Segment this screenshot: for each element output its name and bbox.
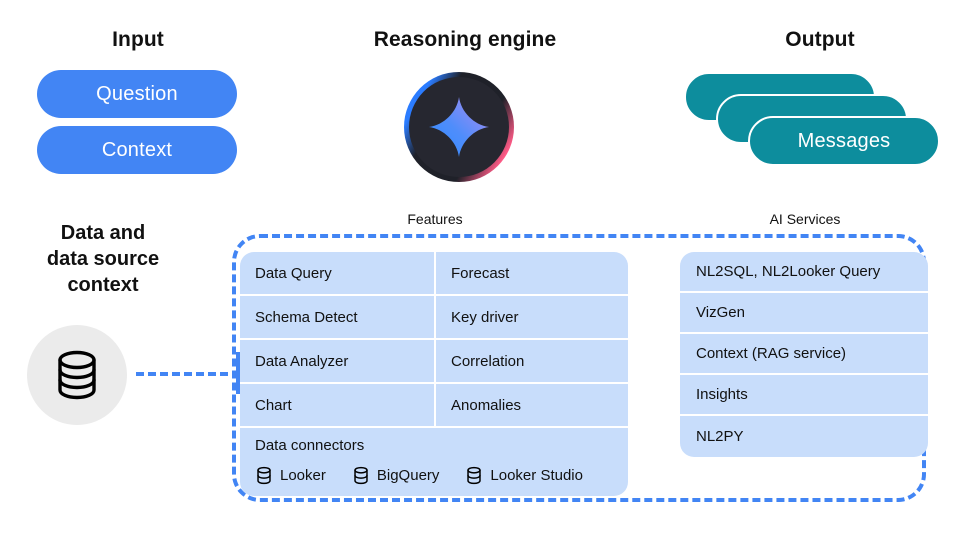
features-row: Data Query Forecast: [240, 252, 628, 296]
ai-services-panel-caption: AI Services: [720, 211, 890, 227]
connector-label: Looker: [280, 467, 326, 484]
diagram-canvas: Input Reasoning engine Output Question C…: [0, 0, 960, 540]
database-icon: [352, 466, 370, 485]
connector-chip-looker[interactable]: Looker: [255, 466, 326, 485]
connector-label: BigQuery: [377, 467, 440, 484]
data-source-connector-line: [136, 372, 240, 376]
connector-label: Looker Studio: [490, 467, 583, 484]
feature-cell-schema-detect[interactable]: Schema Detect: [240, 296, 434, 338]
data-connectors-chip-list: Looker BigQuery: [255, 466, 628, 485]
feature-cell-forecast[interactable]: Forecast: [434, 252, 628, 294]
output-column-title: Output: [700, 28, 940, 52]
ai-service-row-insights[interactable]: Insights: [680, 375, 928, 416]
ai-service-row-nl2py[interactable]: NL2PY: [680, 416, 928, 457]
data-source-title-line-1: Data and: [8, 220, 198, 246]
output-message-card-front[interactable]: Messages: [748, 116, 940, 166]
data-source-icon-circle: [27, 325, 127, 425]
ai-services-panel: NL2SQL, NL2Looker Query VizGen Context (…: [680, 252, 928, 457]
feature-cell-data-analyzer[interactable]: Data Analyzer: [240, 340, 434, 382]
database-icon: [255, 466, 273, 485]
input-pill-context[interactable]: Context: [37, 126, 237, 174]
gemini-spark-icon: [428, 96, 490, 158]
features-row: Chart Anomalies: [240, 384, 628, 428]
features-panel: Data Query Forecast Schema Detect Key dr…: [240, 252, 628, 496]
ai-service-row-context-rag[interactable]: Context (RAG service): [680, 334, 928, 375]
features-panel-caption: Features: [340, 211, 530, 227]
data-source-title-line-2: data source: [8, 246, 198, 272]
reasoning-engine-column-title: Reasoning engine: [330, 28, 600, 52]
feature-cell-key-driver[interactable]: Key driver: [434, 296, 628, 338]
data-source-title-line-3: context: [8, 272, 198, 298]
input-column-title: Input: [48, 28, 228, 52]
features-grid: Data Query Forecast Schema Detect Key dr…: [240, 252, 628, 496]
feature-cell-data-query[interactable]: Data Query: [240, 252, 434, 294]
connector-chip-looker-studio[interactable]: Looker Studio: [465, 466, 583, 485]
ai-service-row-nl2sql[interactable]: NL2SQL, NL2Looker Query: [680, 252, 928, 293]
data-connectors-label: Data connectors: [255, 437, 628, 454]
input-pill-question[interactable]: Question: [37, 70, 237, 118]
features-row: Data Analyzer Correlation: [240, 340, 628, 384]
features-row: Schema Detect Key driver: [240, 296, 628, 340]
connector-chip-bigquery[interactable]: BigQuery: [352, 466, 440, 485]
feature-cell-chart[interactable]: Chart: [240, 384, 434, 426]
ai-service-row-vizgen[interactable]: VizGen: [680, 293, 928, 334]
database-icon: [52, 348, 102, 402]
reasoning-engine-orb-inner: [409, 77, 509, 177]
database-icon: [465, 466, 483, 485]
feature-cell-anomalies[interactable]: Anomalies: [434, 384, 628, 426]
reasoning-engine-orb: [404, 72, 514, 182]
feature-cell-correlation[interactable]: Correlation: [434, 340, 628, 382]
data-source-context-title: Data and data source context: [8, 220, 198, 298]
data-connectors-section: Data connectors Looker: [240, 428, 628, 496]
